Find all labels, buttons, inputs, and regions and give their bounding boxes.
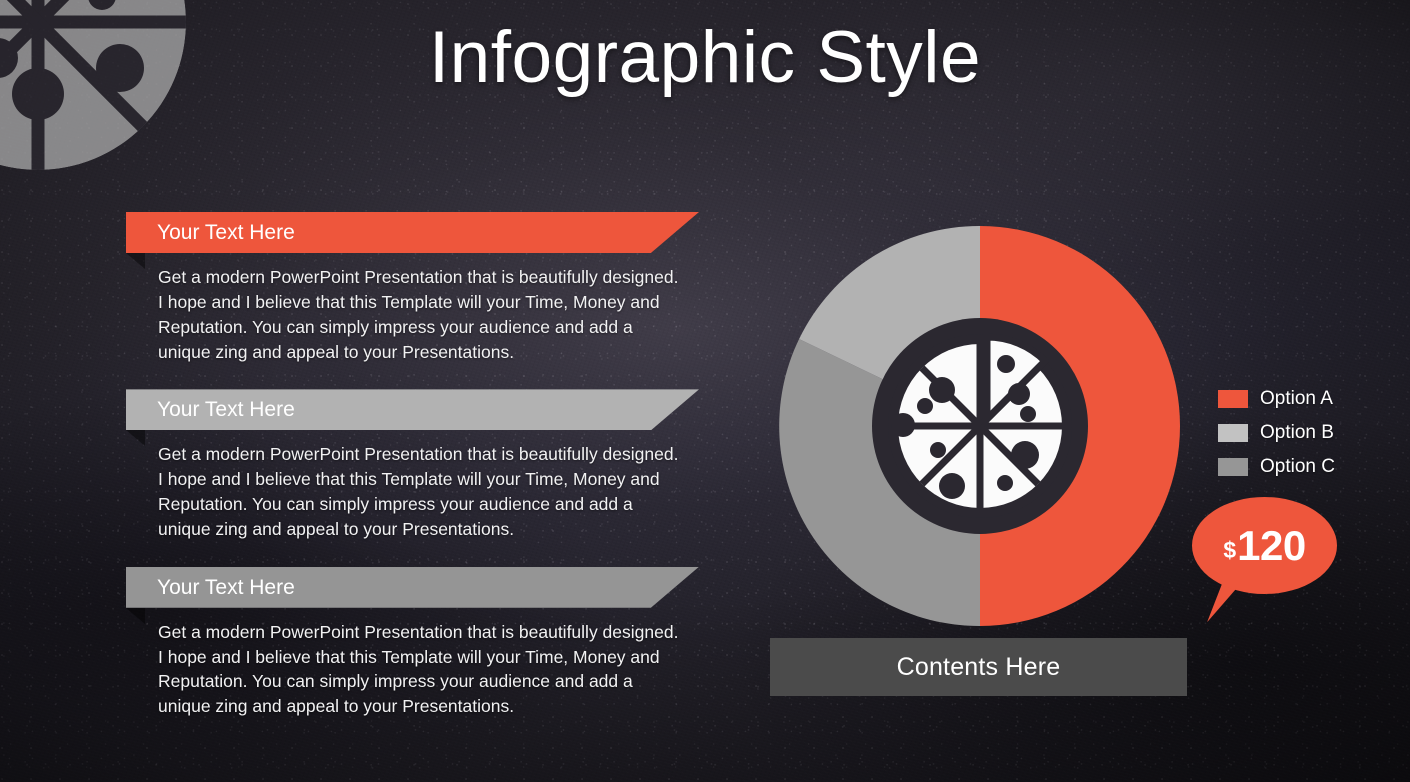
ribbon-header: Your Text Here [126, 389, 706, 430]
block-heading: Your Text Here [157, 212, 295, 253]
ribbon-fold-icon [126, 608, 145, 624]
block-heading: Your Text Here [157, 389, 295, 430]
block-body-text: Get a modern PowerPoint Presentation tha… [126, 442, 682, 541]
legend-item-option-a[interactable]: Option A [1218, 382, 1388, 416]
legend-label: Option C [1260, 456, 1335, 478]
legend-item-option-c[interactable]: Option C [1218, 450, 1388, 484]
legend-label: Option A [1260, 388, 1333, 410]
page-title: Infographic Style [0, 21, 1410, 94]
donut-chart[interactable] [772, 218, 1188, 634]
text-block: Your Text Here Get a modern PowerPoint P… [126, 389, 706, 541]
legend-label: Option B [1260, 422, 1334, 444]
text-blocks-column: Your Text Here Get a modern PowerPoint P… [126, 212, 706, 719]
contents-bar-label: Contents Here [897, 653, 1061, 682]
ribbon-header: Your Text Here [126, 567, 706, 608]
legend-swatch-icon [1218, 390, 1248, 408]
chart-legend: Option A Option B Option C [1218, 382, 1388, 484]
legend-swatch-icon [1218, 424, 1248, 442]
price-amount: 120 [1237, 525, 1306, 567]
ribbon-fold-icon [126, 253, 145, 269]
legend-swatch-icon [1218, 458, 1248, 476]
legend-item-option-b[interactable]: Option B [1218, 416, 1388, 450]
contents-bar[interactable]: Contents Here [770, 638, 1187, 696]
text-block: Your Text Here Get a modern PowerPoint P… [126, 567, 706, 719]
currency-symbol: $ [1223, 539, 1236, 562]
ribbon-header: Your Text Here [126, 212, 706, 253]
price-callout[interactable]: $ 120 [1192, 497, 1337, 594]
block-heading: Your Text Here [157, 567, 295, 608]
slide-canvas: Infographic Style Your Text Here Get a m… [0, 0, 1410, 782]
block-body-text: Get a modern PowerPoint Presentation tha… [126, 265, 682, 364]
text-block: Your Text Here Get a modern PowerPoint P… [126, 212, 706, 364]
pizza-icon [888, 334, 1072, 518]
price-text: $ 120 [1192, 497, 1337, 594]
ribbon-fold-icon [126, 430, 145, 446]
block-body-text: Get a modern PowerPoint Presentation tha… [126, 620, 682, 719]
